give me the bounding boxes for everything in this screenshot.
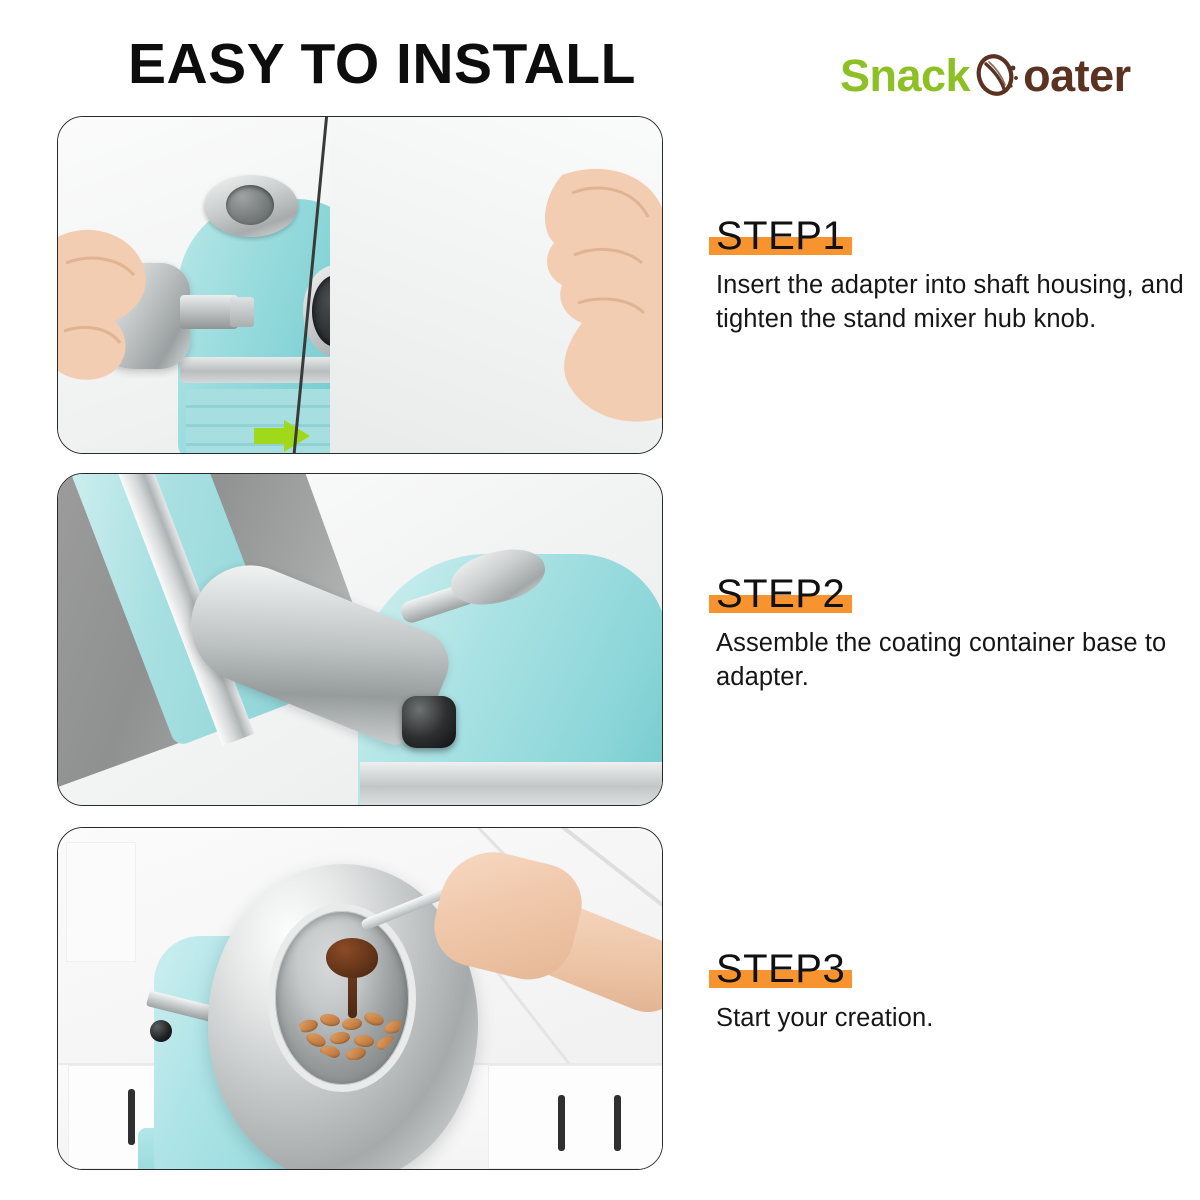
step-2-label: STEP2 (716, 572, 845, 616)
stand-mixer-band-3 (360, 762, 662, 805)
cabinet-handle (558, 1095, 565, 1151)
coating-drum-rim (268, 904, 416, 1092)
step-1-text: STEP1 Insert the adapter into shaft hous… (716, 215, 1186, 337)
step-1-title-wrap: STEP1 (716, 215, 845, 258)
step-photo-2-content (58, 474, 662, 805)
step-3-label: STEP3 (716, 947, 845, 991)
wall-panel (66, 842, 136, 962)
hand-illustration (330, 117, 662, 453)
step-1-label: STEP1 (716, 214, 845, 258)
hub-knob-3 (402, 696, 456, 748)
page-header: EASY TO INSTALL Snack oater (0, 0, 1200, 112)
step-photo-3 (57, 827, 663, 1170)
step-photo-3-content (58, 828, 662, 1169)
kitchen-cabinet (488, 1065, 662, 1169)
cabinet-handle (614, 1095, 621, 1151)
step-2-text: STEP2 Assemble the coating container bas… (716, 573, 1186, 695)
step-photo-1 (57, 116, 663, 454)
brand-logo: Snack oater (840, 48, 1131, 102)
step-3-description: Start your creation. (716, 1002, 1186, 1036)
chocolate-on-spoon (326, 938, 378, 978)
hand-illustration-left (58, 117, 238, 453)
step-photo-2 (57, 473, 663, 806)
step-1-description: Insert the adapter into shaft housing, a… (716, 269, 1186, 337)
step-2-description: Assemble the coating container base to a… (716, 627, 1186, 695)
step-3-title-wrap: STEP3 (716, 948, 845, 991)
brand-name-first: Snack (840, 53, 970, 98)
step-3-text: STEP3 Start your creation. (716, 948, 1186, 1036)
photo-1-right-panel (330, 117, 662, 453)
step-2-title-wrap: STEP2 (716, 573, 845, 616)
cabinet-handle (128, 1089, 135, 1145)
brand-name-second: oater (1023, 53, 1131, 98)
step-photo-1-content (58, 117, 662, 453)
cocoa-bean-icon (974, 51, 1022, 99)
page-title: EASY TO INSTALL (128, 36, 636, 93)
hub-knob-4 (150, 1020, 172, 1042)
